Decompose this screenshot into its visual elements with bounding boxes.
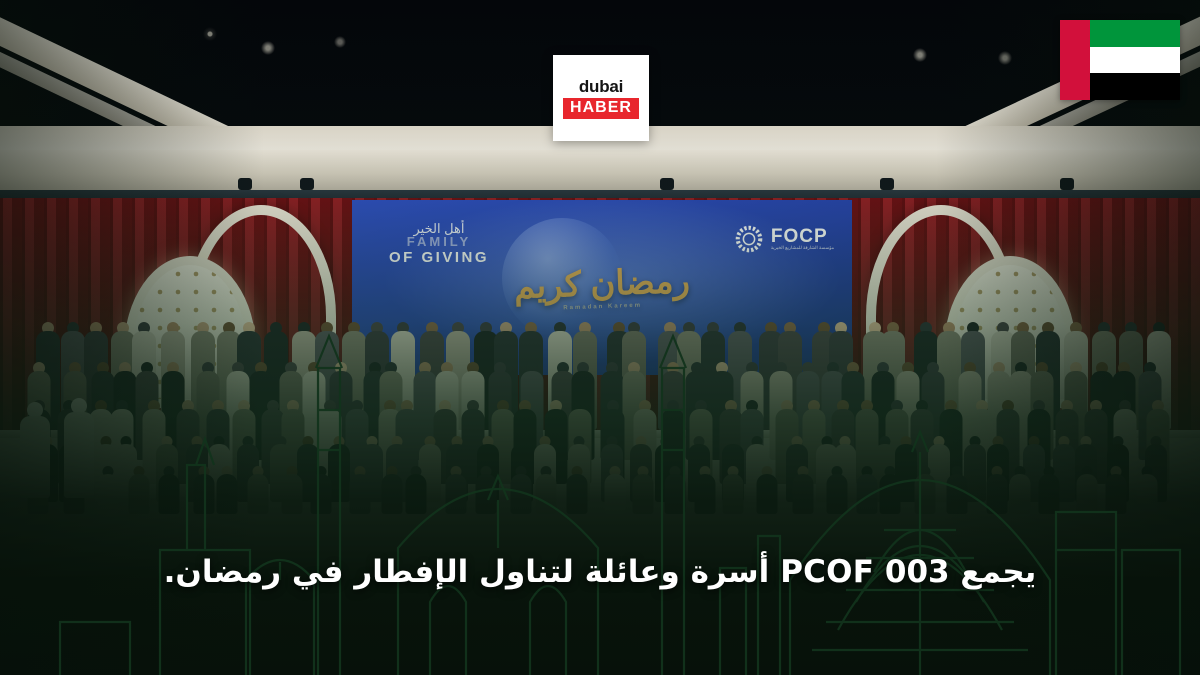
attendee-body	[476, 474, 497, 514]
attendee-body	[20, 416, 50, 498]
attendee	[756, 466, 779, 514]
flag-bands	[1090, 20, 1180, 100]
attendee	[1135, 466, 1158, 514]
attendee	[878, 466, 901, 514]
flag-black-band	[1090, 73, 1180, 100]
attendee-body	[826, 474, 847, 514]
attendee	[309, 466, 332, 514]
attendee	[127, 466, 150, 514]
attendee	[247, 466, 270, 514]
attendee	[791, 466, 814, 514]
attendee-body	[567, 474, 588, 514]
attendee-body	[159, 474, 180, 514]
attendee-body	[915, 474, 936, 514]
group-of-attendees	[0, 250, 1200, 490]
family-of-giving-line1: FAMILY	[374, 234, 504, 249]
attendee	[445, 466, 468, 514]
attendee	[96, 466, 119, 514]
news-photo-card: أهل الخير FAMILY OF GIVING FOCP مؤسسة ال…	[0, 0, 1200, 675]
attendee-body	[510, 474, 531, 514]
watermark-line2: HABER	[563, 98, 639, 119]
attendee	[18, 402, 52, 498]
attendee-body	[128, 474, 149, 514]
attendee-body	[856, 474, 877, 514]
attendee-body	[349, 474, 370, 514]
attendee	[193, 466, 216, 514]
attendee	[721, 466, 744, 514]
headline-caption: يجمع 003 PCOF أسرة وعائلة لتناول الإفطار…	[60, 552, 1140, 593]
attendee-body	[757, 474, 778, 514]
attendee-body	[1136, 474, 1157, 514]
attendee	[535, 466, 558, 514]
attendee-body	[1010, 474, 1031, 514]
attendee	[280, 466, 303, 514]
attendee-body	[248, 474, 269, 514]
attendee	[509, 466, 532, 514]
attendee	[946, 466, 969, 514]
stage-light	[880, 178, 894, 190]
attendee-body	[1039, 474, 1060, 514]
attendee-body	[947, 474, 968, 514]
attendee-body	[792, 474, 813, 514]
stage-light	[238, 178, 252, 190]
flag-white-band	[1090, 47, 1180, 74]
stage-light	[660, 178, 674, 190]
attendee-body	[194, 474, 215, 514]
attendee	[825, 466, 848, 514]
attendee-body	[536, 474, 557, 514]
attendee	[158, 466, 181, 514]
dubai-haber-watermark[interactable]: dubai HABER	[553, 55, 649, 141]
watermark-line1: dubai	[579, 78, 623, 95]
attendee	[985, 466, 1008, 514]
focp-name: FOCP	[771, 227, 834, 246]
attendee-body	[694, 474, 715, 514]
flag-red-band	[1060, 20, 1090, 100]
flag-green-band	[1090, 20, 1180, 47]
attendee-body	[722, 474, 743, 514]
ceiling-soffit	[0, 150, 1200, 190]
attendee-body	[97, 474, 118, 514]
attendee-body	[216, 474, 237, 514]
stage-light	[300, 178, 314, 190]
attendee-body	[446, 474, 467, 514]
attendee-body	[64, 412, 94, 498]
attendee	[1075, 466, 1098, 514]
attendee	[1105, 466, 1128, 514]
attendee-body	[879, 474, 900, 514]
attendee-body	[665, 474, 686, 514]
attendee	[914, 466, 937, 514]
attendee-body	[381, 474, 402, 514]
attendee	[1009, 466, 1032, 514]
attendee	[475, 466, 498, 514]
attendee	[664, 466, 687, 514]
attendee	[380, 466, 403, 514]
attendee	[215, 466, 238, 514]
attendee	[855, 466, 878, 514]
attendee	[632, 466, 655, 514]
attendee	[566, 466, 589, 514]
attendee-body	[1076, 474, 1097, 514]
attendee	[62, 398, 96, 498]
attendee-body	[310, 474, 331, 514]
attendee-body	[633, 474, 654, 514]
attendee	[604, 466, 627, 514]
attendee-body	[605, 474, 626, 514]
attendee	[348, 466, 371, 514]
attendee-body	[406, 474, 427, 514]
attendee-body	[986, 474, 1007, 514]
attendee-body	[1106, 474, 1127, 514]
attendee	[405, 466, 428, 514]
stage-light	[1060, 178, 1074, 190]
attendee-body	[281, 474, 302, 514]
uae-flag-icon	[1060, 20, 1180, 100]
attendee	[1038, 466, 1061, 514]
attendee	[693, 466, 716, 514]
